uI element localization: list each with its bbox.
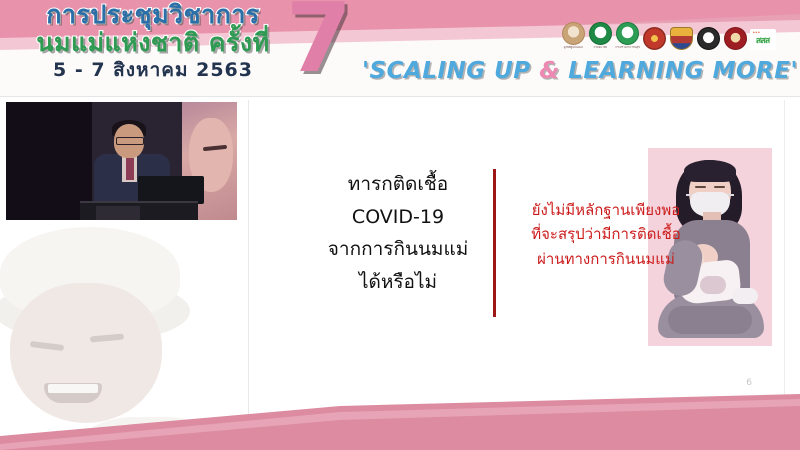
conference-date: 5 - 7 สิงหาคม 2563	[18, 61, 288, 80]
answer-line-2: ที่จะสรุปว่ามีการติดเชื้อ	[502, 222, 710, 246]
mother-hair-front	[684, 160, 736, 182]
speaker-tie	[126, 158, 134, 180]
logo-caption: มูลนิธิศูนย์นมแม่	[564, 46, 583, 50]
royal-crest-icon	[670, 27, 693, 50]
question-answer-divider	[493, 169, 496, 317]
slide-number: 6	[746, 378, 752, 388]
tagline-part1: 'SCALING UP	[362, 58, 539, 84]
speaker-presentation-video[interactable]	[6, 102, 237, 220]
royal-crest-logo	[670, 27, 693, 50]
sss-wordmark-icon: ••• สสส	[750, 29, 776, 50]
conference-edition-number: 7	[286, 0, 352, 87]
conference-title-line2: นมแม่แห่งชาติ ครั้งที่	[18, 30, 288, 55]
mother-hand	[700, 276, 726, 294]
sponsor-logo-row: มูลนิธิศูนย์นมแม่ กรมอนามัย กระทรวงสาธาร…	[562, 22, 774, 50]
royal-emblem-icon	[643, 27, 666, 50]
podium-laptop	[138, 176, 204, 204]
foundation-seal-icon	[562, 22, 585, 45]
answer-text-block: ยังไม่มีหลักฐานเพียงพอ ที่จะสรุปว่ามีการ…	[502, 198, 710, 271]
mother-eyebrow-left	[695, 186, 706, 188]
ministry-of-public-health-logo: กรมอนามัย	[589, 22, 612, 50]
tagline-part2: LEARNING MORE'	[560, 58, 798, 84]
caduceus-green-icon-2	[616, 22, 639, 45]
mother-and-child-foundation-logo: มูลนิธิศูนย์นมแม่	[562, 22, 585, 50]
mother-crossed-legs	[668, 306, 752, 334]
conference-tagline: 'SCALING UP & LEARNING MORE'	[362, 58, 798, 84]
logo-caption: กระทรวงสาธารณสุข	[615, 46, 640, 50]
garuda-red-seal-icon	[724, 27, 747, 50]
thai-health-sss-logo: ••• สสส	[751, 29, 774, 50]
logo-caption: กรมอนามัย	[594, 46, 607, 50]
caduceus-green-icon	[589, 22, 612, 45]
slide-footer-band	[0, 388, 800, 450]
footer-band-dark	[0, 392, 800, 450]
question-line-3: จากการกินนมแม่	[318, 233, 478, 266]
black-seal-icon	[697, 27, 720, 50]
garuda-red-seal-logo	[724, 27, 747, 50]
question-line-4: ได้หรือไม่	[318, 266, 478, 299]
sss-dots-icon: •••	[753, 30, 761, 35]
question-line-1: ทารกติดเชื้อ	[318, 168, 478, 201]
conference-title: การประชุมวิชาการ นมแม่แห่งชาติ ครั้งที่ …	[18, 2, 288, 80]
speaker-glasses-icon	[116, 137, 144, 145]
national-health-security-logo	[697, 27, 720, 50]
question-text-block: ทารกติดเชื้อ COVID-19 จากการกินนมแม่ ได้…	[318, 168, 478, 299]
question-line-2: COVID-19	[318, 201, 478, 234]
tagline-ampersand: &	[539, 58, 560, 84]
royal-emblem-logo	[643, 27, 666, 50]
answer-line-1: ยังไม่มีหลักฐานเพียงพอ	[502, 198, 710, 222]
presentation-slide: การประชุมวิชาการ นมแม่แห่งชาติ ครั้งที่ …	[0, 0, 800, 450]
baby-foot	[732, 288, 758, 304]
podium-front-panel	[96, 206, 140, 220]
slide-header-banner: การประชุมวิชาการ นมแม่แห่งชาติ ครั้งที่ …	[0, 0, 800, 97]
conference-title-line1: การประชุมวิชาการ	[18, 2, 288, 27]
answer-line-3: ผ่านทางการกินนมแม่	[502, 247, 710, 271]
department-of-health-logo: กระทรวงสาธารณสุข	[616, 22, 639, 50]
mother-eyebrow-right	[714, 186, 725, 188]
content-right-edge	[784, 100, 785, 420]
